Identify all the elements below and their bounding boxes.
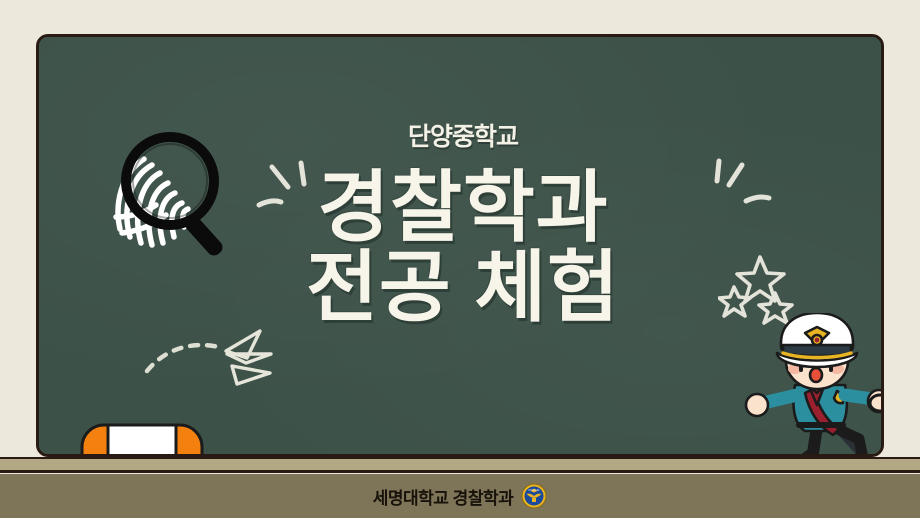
chalk-dashes-left bbox=[255, 147, 327, 224]
slide-canvas: 단양중학교 경찰학과 전공 체험 세명대학교 경찰학과 POLICE bbox=[0, 0, 920, 518]
police-officer-illustration bbox=[733, 313, 884, 457]
footer-label: 세명대학교 경찰학과 bbox=[373, 484, 513, 509]
police-emblem-icon: POLICE bbox=[521, 483, 547, 509]
magnifier-fingerprint-icon bbox=[100, 121, 240, 266]
chalkboard-ledge bbox=[0, 457, 920, 473]
footer-bar: 세명대학교 경찰학과 POLICE bbox=[0, 474, 920, 518]
blackboard-eraser bbox=[80, 423, 204, 457]
chalkboard: 단양중학교 경찰학과 전공 체험 bbox=[36, 34, 884, 457]
paper-plane-icon bbox=[143, 321, 275, 408]
svg-text:POLICE: POLICE bbox=[529, 488, 540, 492]
footer-content: 세명대학교 경찰학과 POLICE bbox=[373, 483, 547, 509]
chalk-dashes-right bbox=[694, 145, 776, 222]
